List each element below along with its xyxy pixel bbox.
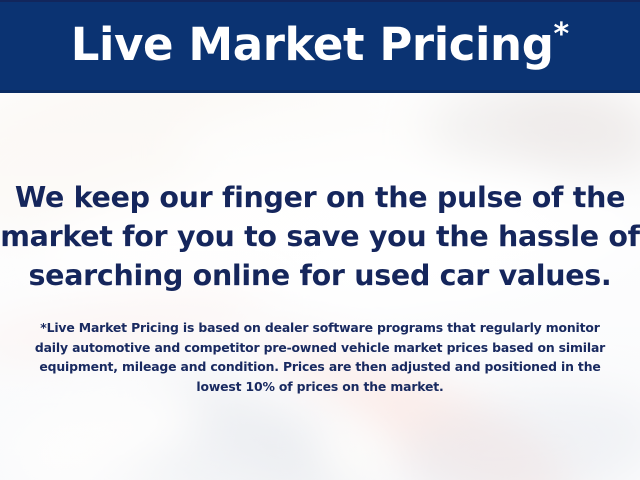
page-title-asterisk: * <box>554 17 570 52</box>
disclaimer-line-1: *Live Market Pricing is based on dealer … <box>20 318 620 338</box>
disclaimer-block: *Live Market Pricing is based on dealer … <box>20 318 620 396</box>
disclaimer-line-2: daily automotive and competitor pre-owne… <box>20 338 620 358</box>
disclaimer-line-4: lowest 10% of prices on the market. <box>20 377 620 397</box>
headline-block: We keep our finger on the pulse of the m… <box>0 178 640 295</box>
page-title: Live Market Pricing* <box>71 22 569 70</box>
live-market-pricing-ad: Live Market Pricing* We keep our finger … <box>0 0 640 480</box>
headline-line-2: market for you to save you the hassle of <box>0 217 640 256</box>
disclaimer-line-3: equipment, mileage and condition. Prices… <box>20 357 620 377</box>
headline-line-3: searching online for used car values. <box>0 256 640 295</box>
header-banner: Live Market Pricing* <box>0 0 640 93</box>
page-title-text: Live Market Pricing <box>71 18 554 71</box>
headline-line-1: We keep our finger on the pulse of the <box>0 178 640 217</box>
